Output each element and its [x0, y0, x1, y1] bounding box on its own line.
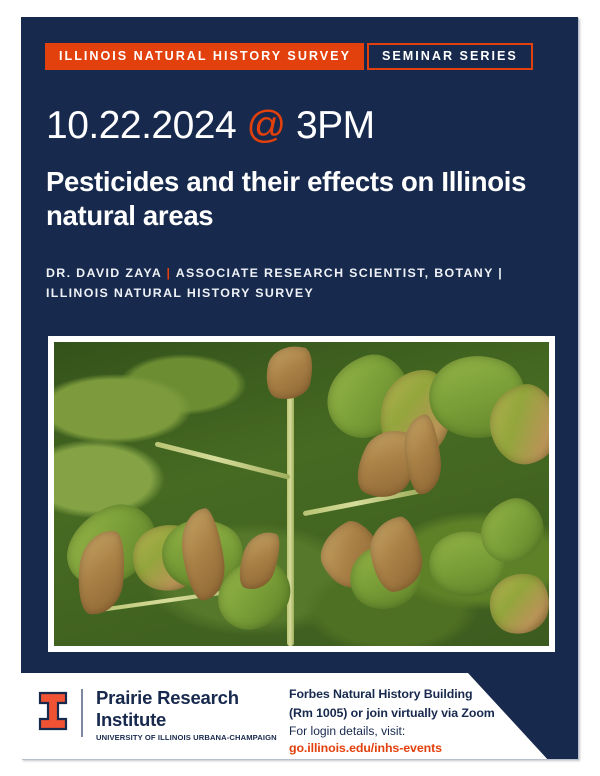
footer-branding: Prairie Research Institute UNIVERSITY OF…	[38, 687, 277, 742]
photo-frame	[48, 336, 555, 652]
location-line-1: Forbes Natural History Building	[289, 685, 495, 704]
location-line-2: (Rm 1005) or join virtually via Zoom	[289, 704, 495, 723]
banner-series-label: SEMINAR SERIES	[367, 43, 533, 70]
banner-organization-label: ILLINOIS NATURAL HISTORY SURVEY	[45, 43, 364, 70]
university-name: UNIVERSITY OF ILLINOIS URBANA-CHAMPAIGN	[96, 733, 277, 742]
seminar-photo	[54, 342, 549, 646]
institute-name: Prairie Research Institute	[96, 687, 277, 730]
speaker-credit: DR. DAVID ZAYA | ASSOCIATE RESEARCH SCIE…	[46, 263, 551, 303]
seminar-poster: ILLINOIS NATURAL HISTORY SURVEY SEMINAR …	[21, 17, 578, 759]
credit-separator-2: |	[498, 266, 503, 280]
footer-logistics: Forbes Natural History Building (Rm 1005…	[289, 685, 495, 758]
login-note: For login details, visit:	[289, 722, 495, 740]
poster-canvas: ILLINOIS NATURAL HISTORY SURVEY SEMINAR …	[0, 0, 600, 776]
poster-footer: Prairie Research Institute UNIVERSITY OF…	[21, 673, 578, 759]
logo-divider	[81, 689, 83, 737]
photo-stem-main	[287, 385, 294, 646]
event-time: 3PM	[296, 104, 375, 147]
talk-title: Pesticides and their effects on Illinois…	[46, 165, 546, 233]
institute-block: Prairie Research Institute UNIVERSITY OF…	[96, 687, 277, 742]
event-url[interactable]: go.illinois.edu/inhs-events	[289, 740, 495, 758]
illinois-block-i-icon	[38, 691, 68, 731]
at-symbol-icon: @	[247, 104, 286, 147]
event-date: 10.22.2024	[46, 104, 236, 147]
speaker-name: DR. DAVID ZAYA	[46, 266, 162, 280]
speaker-affiliation: ILLINOIS NATURAL HISTORY SURVEY	[46, 286, 314, 300]
header-banner: ILLINOIS NATURAL HISTORY SURVEY SEMINAR …	[45, 43, 533, 70]
speaker-role: ASSOCIATE RESEARCH SCIENTIST, BOTANY	[176, 266, 494, 280]
event-datetime: 10.22.2024 @ 3PM	[46, 105, 375, 148]
